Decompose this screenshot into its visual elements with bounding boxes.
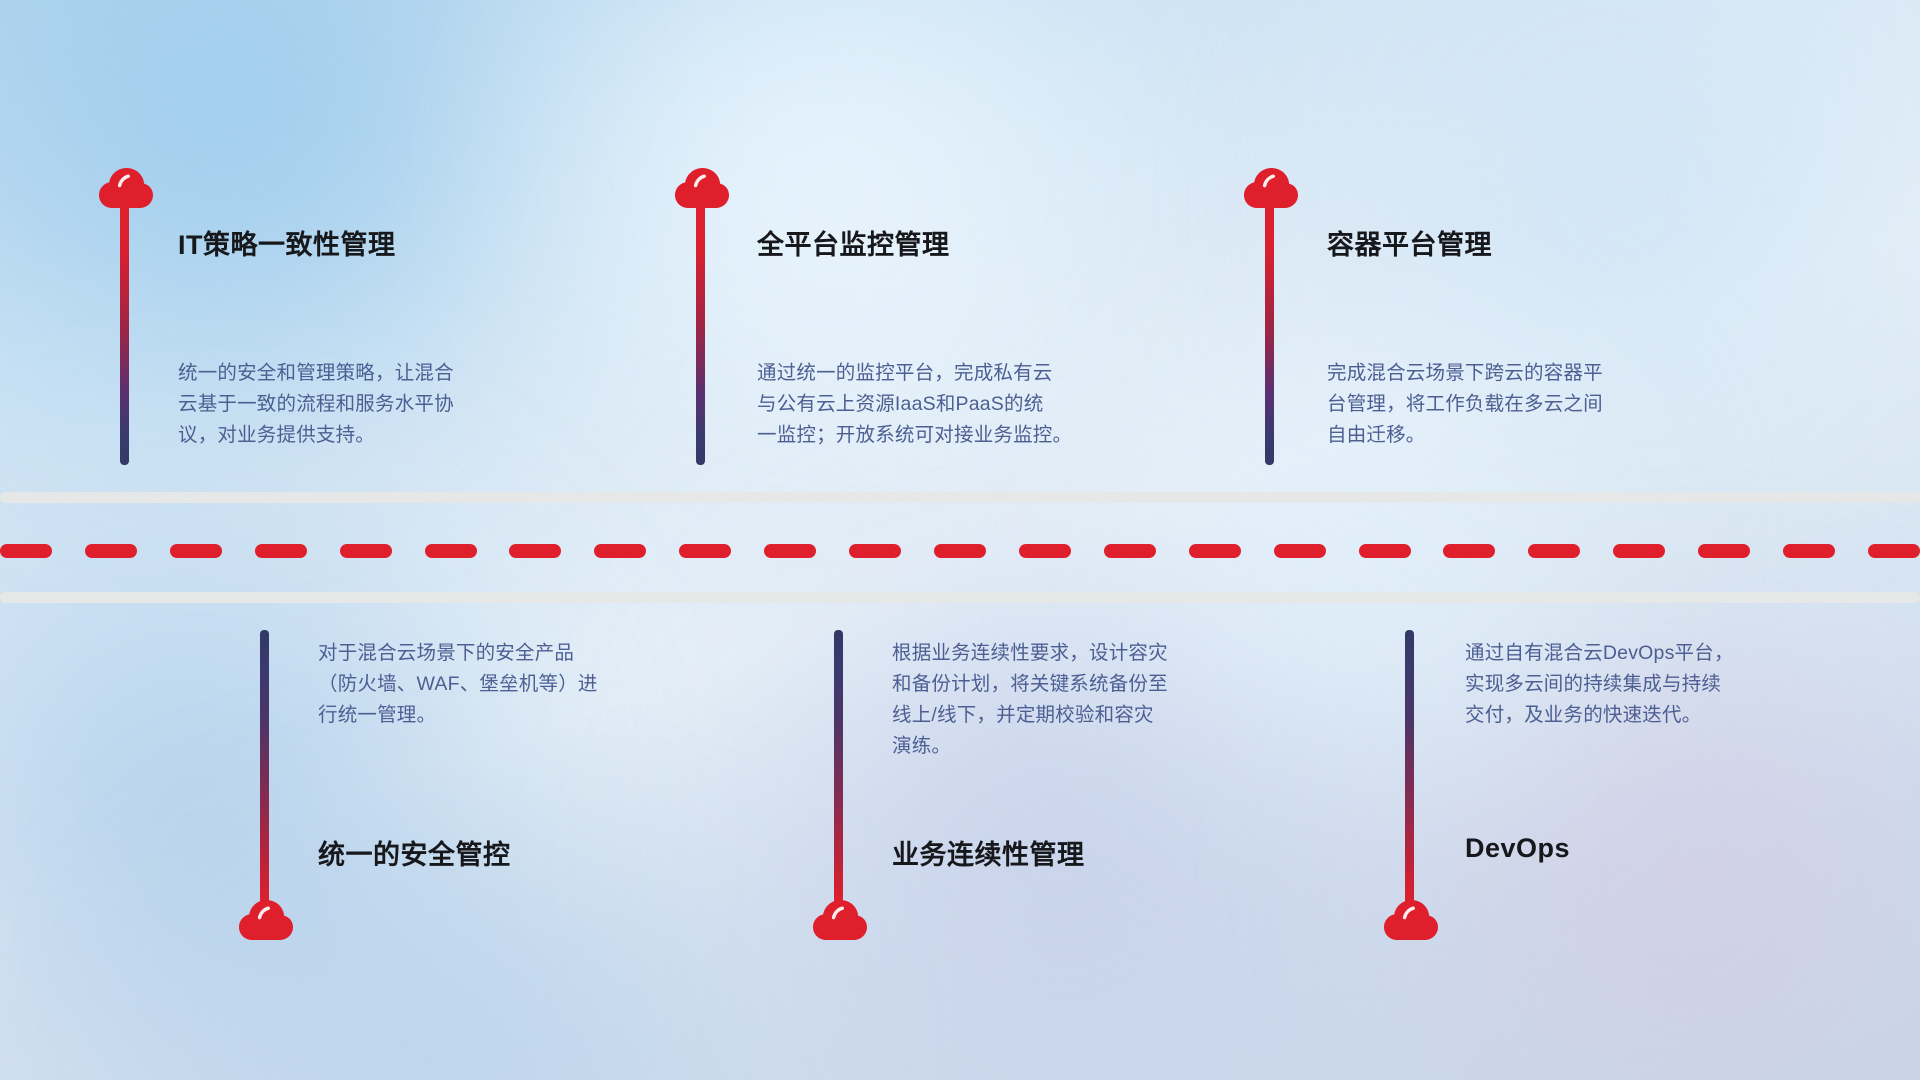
infographic-canvas: IT策略一致性管理 统一的安全和管理策略，让混合 云基于一致的流程和服务水平协 …: [0, 0, 1920, 1080]
cloud-icon: [812, 897, 868, 941]
dash-segment: [1274, 544, 1326, 558]
timeline-stem: [120, 203, 129, 465]
bottom-item-2-title: 业务连续性管理: [892, 833, 1085, 872]
timeline-stem: [834, 630, 843, 905]
bottom-item-2-body: 根据业务连续性要求，设计容灾 和备份计划，将关键系统备份至 线上/线下，并定期校…: [892, 638, 1342, 762]
divider-band-top: [0, 492, 1920, 503]
top-item-3-title: 容器平台管理: [1327, 223, 1492, 262]
dash-segment: [85, 544, 137, 558]
dash-segment: [934, 544, 986, 558]
timeline-stem: [696, 203, 705, 465]
top-item-2-body: 通过统一的监控平台，完成私有云 与公有云上资源IaaS和PaaS的统 一监控；开…: [757, 358, 1207, 451]
top-item-3-body: 完成混合云场景下跨云的容器平 台管理，将工作负载在多云之间 自由迁移。: [1327, 358, 1757, 451]
dash-segment: [1359, 544, 1411, 558]
dash-segment: [1698, 544, 1750, 558]
dash-segment: [1783, 544, 1835, 558]
dash-segment: [594, 544, 646, 558]
top-item-1-title: IT策略一致性管理: [178, 223, 396, 262]
dash-segment: [340, 544, 392, 558]
timeline-stem: [260, 630, 269, 905]
cloud-icon: [1383, 897, 1439, 941]
bottom-item-1-body: 对于混合云场景下的安全产品 （防火墙、WAF、堡垒机等）进 行统一管理。: [318, 638, 748, 731]
dash-segment: [1868, 544, 1920, 558]
bottom-item-3-body: 通过自有混合云DevOps平台， 实现多云间的持续集成与持续 交付，及业务的快速…: [1465, 638, 1895, 731]
dash-segment: [1613, 544, 1665, 558]
cloud-icon: [238, 897, 294, 941]
dash-segment: [255, 544, 307, 558]
top-item-1-body: 统一的安全和管理策略，让混合 云基于一致的流程和服务水平协 议，对业务提供支持。: [178, 358, 608, 451]
timeline-stem: [1265, 203, 1274, 465]
divider-band-bottom: [0, 592, 1920, 603]
dash-segment: [849, 544, 901, 558]
dash-segment: [1189, 544, 1241, 558]
dash-segment: [1104, 544, 1156, 558]
dash-segment: [1019, 544, 1071, 558]
dash-segment: [0, 544, 52, 558]
dash-segment: [764, 544, 816, 558]
dash-segment: [1443, 544, 1495, 558]
top-item-2-title: 全平台监控管理: [757, 223, 950, 262]
red-dashed-separator: [0, 544, 1920, 558]
dash-segment: [509, 544, 561, 558]
dash-segment: [425, 544, 477, 558]
bottom-item-1-title: 统一的安全管控: [318, 833, 511, 872]
dash-segment: [170, 544, 222, 558]
dash-segment: [679, 544, 731, 558]
bottom-item-3-title: DevOps: [1465, 833, 1570, 864]
dash-segment: [1528, 544, 1580, 558]
timeline-stem: [1405, 630, 1414, 905]
